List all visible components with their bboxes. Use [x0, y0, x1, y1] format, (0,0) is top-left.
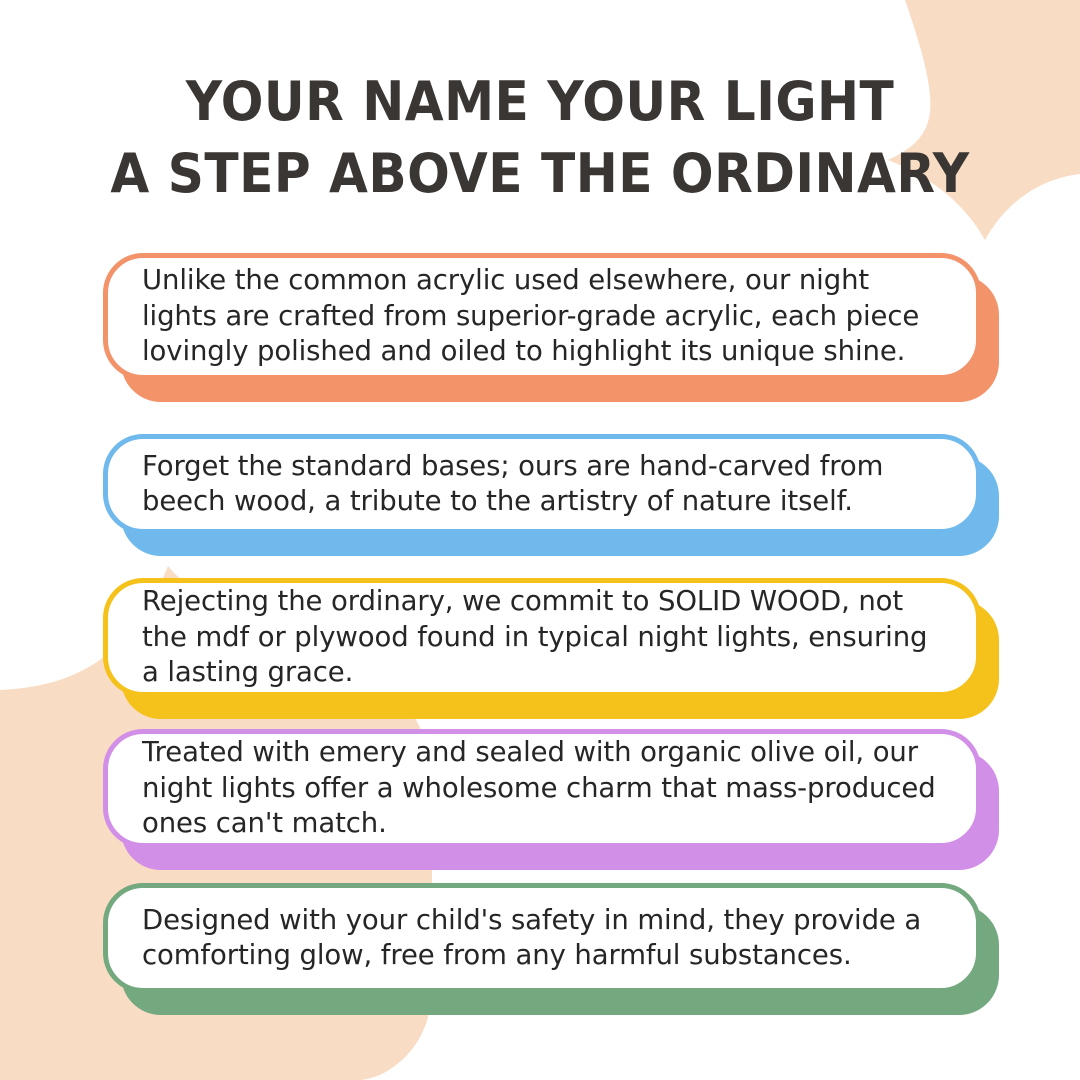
- card-text: Rejecting the ordinary, we commit to SOL…: [142, 584, 942, 691]
- card-body: Forget the standard bases; ours are hand…: [103, 434, 981, 534]
- card-body: Unlike the common acrylic used elsewhere…: [103, 253, 981, 380]
- feature-card[interactable]: Forget the standard bases; ours are hand…: [103, 434, 981, 534]
- feature-card[interactable]: Unlike the common acrylic used elsewhere…: [103, 253, 981, 380]
- card-text: Unlike the common acrylic used elsewhere…: [142, 263, 942, 370]
- poster-canvas: YOUR NAME YOUR LIGHT A STEP ABOVE THE OR…: [0, 0, 1080, 1080]
- card-body: Designed with your child's safety in min…: [103, 883, 981, 993]
- card-body: Rejecting the ordinary, we commit to SOL…: [103, 578, 981, 697]
- feature-card[interactable]: Treated with emery and sealed with organ…: [103, 729, 981, 848]
- poster-title: YOUR NAME YOUR LIGHT A STEP ABOVE THE OR…: [0, 66, 1080, 210]
- title-line-1: YOUR NAME YOUR LIGHT: [38, 66, 1042, 138]
- title-line-2: A STEP ABOVE THE ORDINARY: [38, 138, 1042, 210]
- feature-card[interactable]: Rejecting the ordinary, we commit to SOL…: [103, 578, 981, 697]
- card-text: Designed with your child's safety in min…: [142, 903, 942, 974]
- card-text: Forget the standard bases; ours are hand…: [142, 449, 942, 520]
- card-body: Treated with emery and sealed with organ…: [103, 729, 981, 848]
- feature-card[interactable]: Designed with your child's safety in min…: [103, 883, 981, 993]
- card-text: Treated with emery and sealed with organ…: [142, 735, 942, 842]
